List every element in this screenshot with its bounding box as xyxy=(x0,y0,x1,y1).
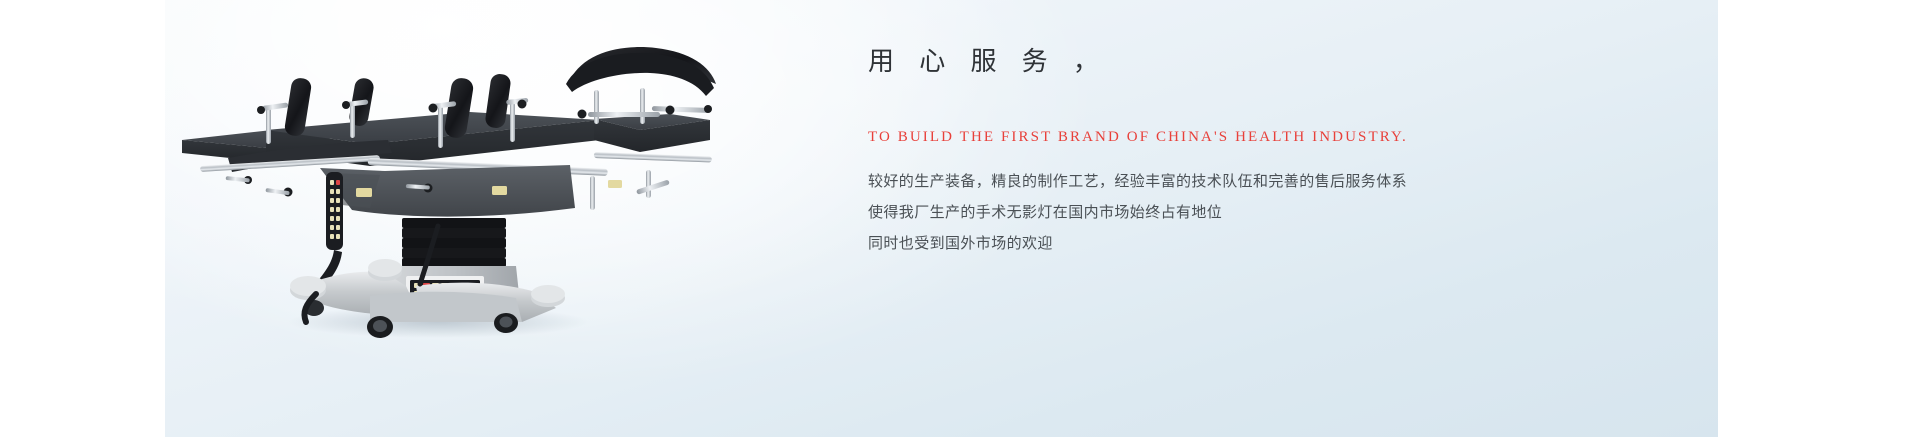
body-line: 同时也受到国外市场的欢迎 xyxy=(868,228,1407,259)
banner-tagline: TO BUILD THE FIRST BRAND OF CHINA'S HEAL… xyxy=(868,129,1408,146)
body-line: 较好的生产装备，精良的制作工艺，经验丰富的技术队伍和完善的售后服务体系 xyxy=(868,166,1407,197)
banner-copy: 用 心 服 务 ， TO BUILD THE FIRST BRAND OF CH… xyxy=(868,44,1508,78)
promo-banner: 用 心 服 务 ， TO BUILD THE FIRST BRAND OF CH… xyxy=(165,0,1718,437)
banner-headline: 用 心 服 务 ， xyxy=(868,44,1508,78)
operating-table-image xyxy=(170,40,730,340)
body-line: 使得我厂生产的手术无影灯在国内市场始终占有地位 xyxy=(868,197,1407,228)
banner-body: 较好的生产装备，精良的制作工艺，经验丰富的技术队伍和完善的售后服务体系 使得我厂… xyxy=(868,166,1407,259)
banner-page: 用 心 服 务 ， TO BUILD THE FIRST BRAND OF CH… xyxy=(0,0,1920,437)
